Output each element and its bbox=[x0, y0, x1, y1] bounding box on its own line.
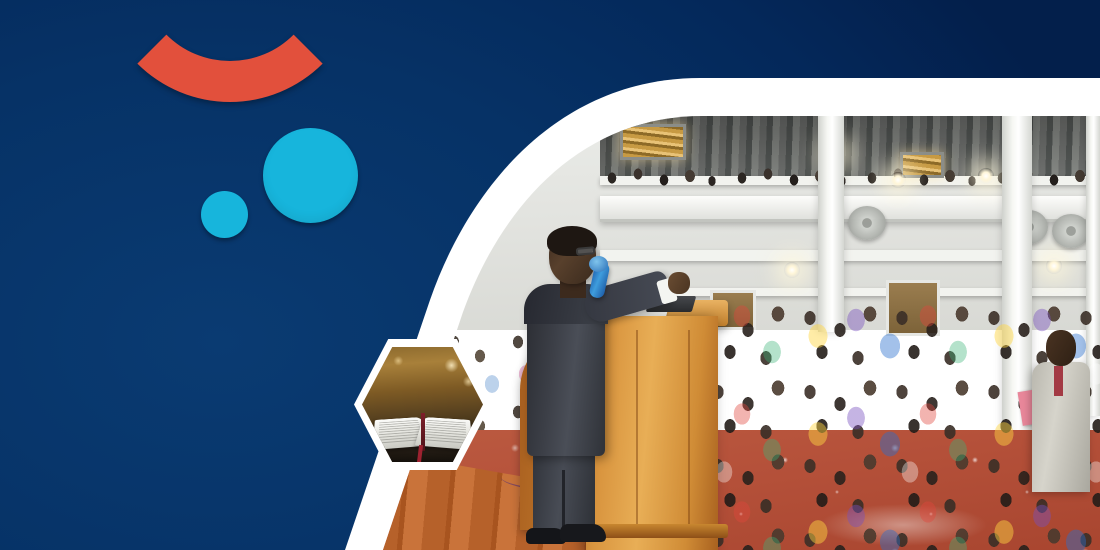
ceiling-lamp bbox=[890, 172, 906, 188]
bible-photo bbox=[362, 347, 483, 462]
cyan-circle-small-decoration bbox=[201, 191, 248, 238]
ceiling-lamp bbox=[978, 168, 994, 184]
hero-banner bbox=[0, 0, 1100, 550]
pulpit-panel-seam bbox=[688, 330, 690, 526]
pulpit-panel-seam bbox=[636, 330, 638, 526]
ceiling-lamp bbox=[1046, 258, 1062, 274]
preacher-hand bbox=[668, 272, 690, 294]
red-arc-decoration bbox=[99, 0, 361, 102]
blue-microphone-head bbox=[589, 256, 608, 272]
wall-fan bbox=[1052, 214, 1090, 248]
ceiling-lamp bbox=[784, 262, 800, 278]
usher-tie bbox=[1054, 366, 1063, 396]
wall-fan bbox=[848, 206, 886, 240]
preacher-glasses bbox=[576, 246, 596, 256]
cyan-circle-large-decoration bbox=[263, 128, 358, 223]
pulpit-body bbox=[586, 316, 718, 550]
usher-head bbox=[1046, 330, 1076, 366]
bible-text-lines bbox=[422, 420, 467, 444]
preacher-shoe bbox=[560, 524, 606, 542]
